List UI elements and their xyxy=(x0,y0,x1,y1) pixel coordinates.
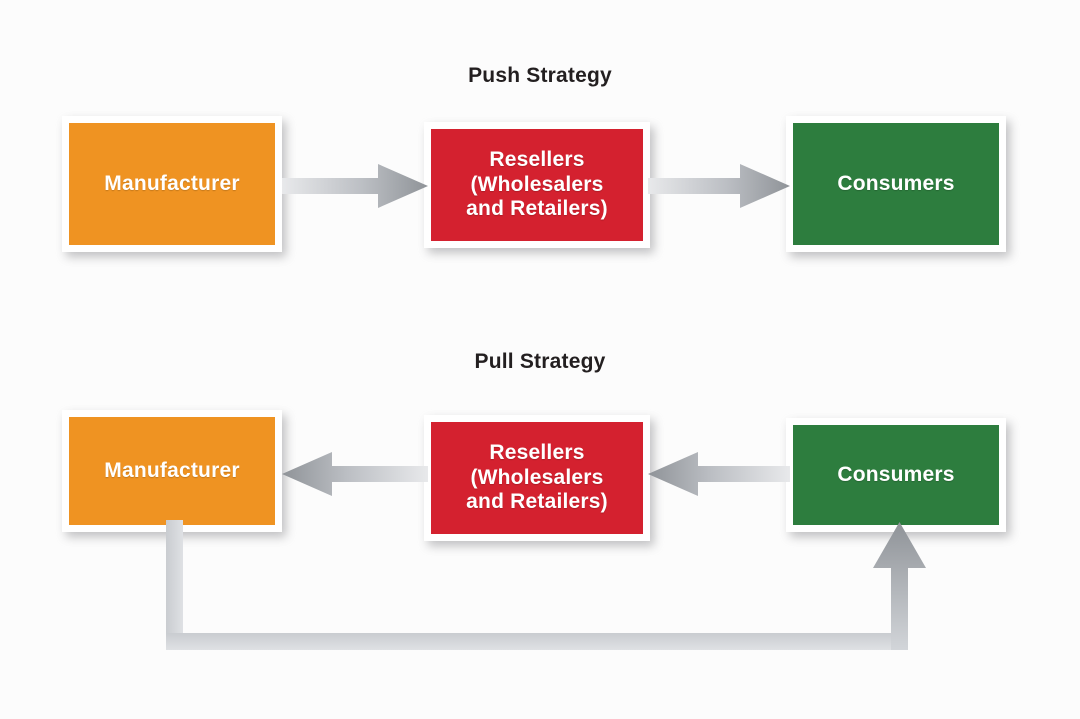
pull-resellers-line-2: (Wholesalers xyxy=(470,466,603,489)
pull-arrow-consumers-to-resellers xyxy=(648,448,790,500)
push-arrow-resellers-to-consumers xyxy=(648,160,790,212)
push-node-manufacturer-label: Manufacturer xyxy=(104,172,239,197)
pull-node-manufacturer: Manufacturer xyxy=(62,410,282,532)
push-resellers-line-3: and Retailers) xyxy=(466,197,608,220)
push-node-resellers: Resellers (Wholesalers and Retailers) xyxy=(424,122,650,248)
pull-node-consumers: Consumers xyxy=(786,418,1006,532)
push-node-consumers-fill: Consumers xyxy=(793,123,999,245)
push-node-resellers-label: Resellers (Wholesalers and Retailers) xyxy=(466,148,608,222)
pull-node-manufacturer-label: Manufacturer xyxy=(104,459,239,484)
pull-strategy-title: Pull Strategy xyxy=(0,350,1080,374)
push-node-resellers-fill: Resellers (Wholesalers and Retailers) xyxy=(431,129,643,241)
push-node-manufacturer: Manufacturer xyxy=(62,116,282,252)
pull-resellers-line-3: and Retailers) xyxy=(466,490,608,513)
push-node-consumers-label: Consumers xyxy=(837,172,954,197)
pull-node-resellers-label: Resellers (Wholesalers and Retailers) xyxy=(466,441,608,515)
pull-node-consumers-fill: Consumers xyxy=(793,425,999,525)
pull-arrow-feedback-loop-manufacturer-to-consumers xyxy=(150,520,930,680)
diagram-canvas: Push Strategy Manufacturer Resellers (Wh… xyxy=(0,0,1080,719)
pull-node-consumers-label: Consumers xyxy=(837,463,954,488)
push-resellers-line-2: (Wholesalers xyxy=(470,173,603,196)
pull-arrow-resellers-to-manufacturer xyxy=(282,448,428,500)
push-node-manufacturer-fill: Manufacturer xyxy=(69,123,275,245)
pull-resellers-line-1: Resellers xyxy=(489,441,584,464)
pull-node-manufacturer-fill: Manufacturer xyxy=(69,417,275,525)
push-resellers-line-1: Resellers xyxy=(489,148,584,171)
pull-node-resellers-fill: Resellers (Wholesalers and Retailers) xyxy=(431,422,643,534)
pull-node-resellers: Resellers (Wholesalers and Retailers) xyxy=(424,415,650,541)
push-strategy-title: Push Strategy xyxy=(0,64,1080,88)
push-node-consumers: Consumers xyxy=(786,116,1006,252)
push-arrow-manufacturer-to-resellers xyxy=(282,160,428,212)
